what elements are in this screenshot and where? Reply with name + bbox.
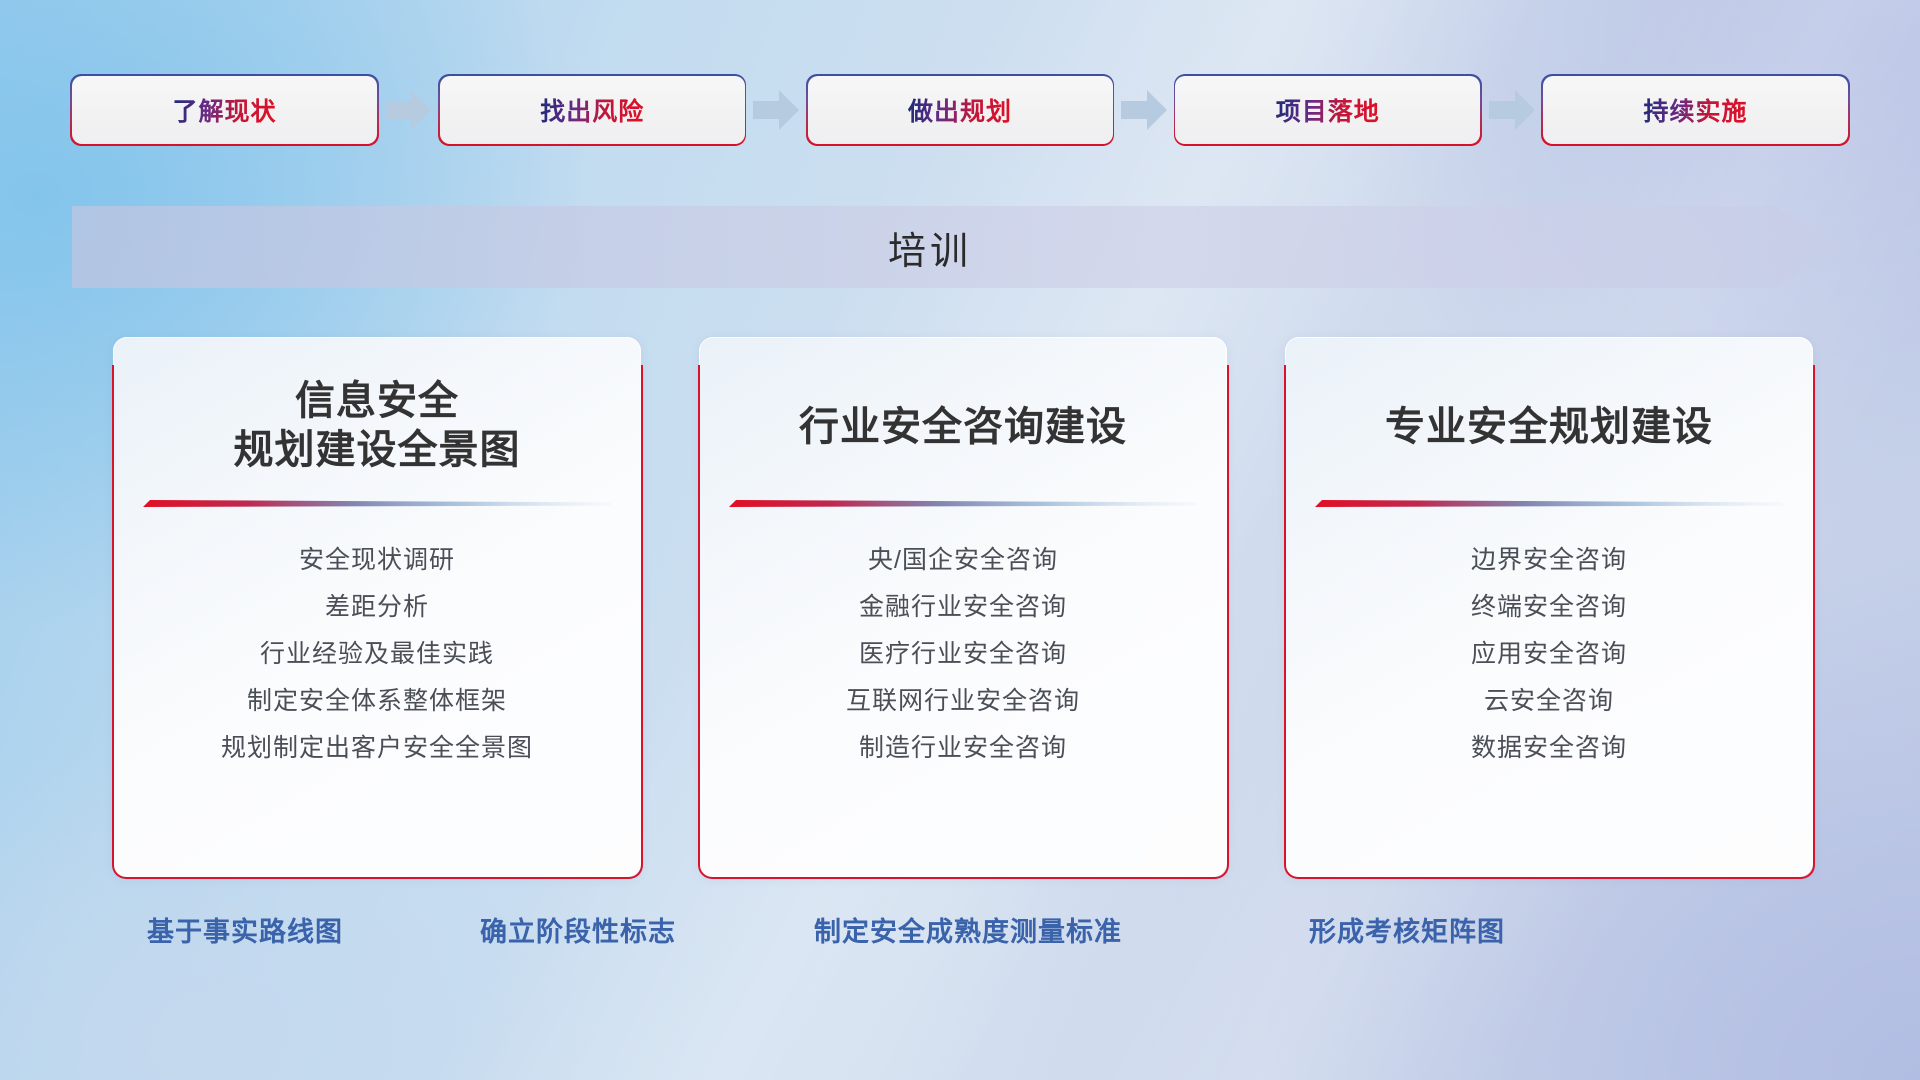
card-item-list: 央/国企安全咨询 金融行业安全咨询 医疗行业安全咨询 互联网行业安全咨询 制造行… (729, 537, 1197, 772)
step-arrow-2 (745, 88, 808, 132)
card-title: 信息安全 规划建设全景图 (234, 377, 521, 477)
card-title-line: 行业安全咨询建设 (799, 403, 1127, 452)
list-item: 央/国企安全咨询 (729, 537, 1197, 584)
card-industry-consulting[interactable]: 行业安全咨询建设 (699, 337, 1227, 877)
tapered-rule-icon (729, 495, 1197, 511)
card-title-line: 规划建设全景图 (234, 426, 521, 475)
step-box-3[interactable]: 做出规划 (808, 76, 1113, 144)
step-box-5[interactable]: 持续实施 (1543, 76, 1848, 144)
arrow-right-icon (1489, 89, 1535, 131)
slide-canvas: 了解现状 找出风险 做出规划 项目落地 (0, 0, 1920, 1080)
list-item: 医疗行业安全咨询 (729, 631, 1197, 678)
step-box-2[interactable]: 找出风险 (440, 76, 745, 144)
list-item: 行业经验及最佳实践 (143, 631, 611, 678)
list-item: 终端安全咨询 (1315, 584, 1783, 631)
step-arrow-4 (1480, 88, 1543, 132)
caption-milestones: 确立阶段性标志 (480, 910, 676, 949)
card-item-list: 边界安全咨询 终端安全咨询 应用安全咨询 云安全咨询 数据安全咨询 (1315, 537, 1783, 772)
list-item: 规划制定出客户安全全景图 (143, 725, 611, 772)
list-item: 应用安全咨询 (1315, 631, 1783, 678)
process-step-row: 了解现状 找出风险 做出规划 项目落地 (72, 76, 1848, 144)
arrow-right-icon (1121, 89, 1167, 131)
tapered-rule-icon (143, 495, 611, 511)
list-item: 云安全咨询 (1315, 678, 1783, 725)
card-row: 信息安全 规划建设全景图 (113, 337, 1813, 877)
arrow-right-icon (385, 89, 431, 131)
card-panorama[interactable]: 信息安全 规划建设全景图 (113, 337, 641, 877)
step-label: 持续实施 (1643, 92, 1747, 128)
list-item: 制定安全体系整体框架 (143, 678, 611, 725)
list-item: 金融行业安全咨询 (729, 584, 1197, 631)
card-title-line: 信息安全 (234, 377, 521, 426)
step-label: 项目落地 (1276, 92, 1380, 128)
caption-row: 基于事实路线图 确立阶段性标志 制定安全成熟度测量标准 形成考核矩阵图 (0, 910, 1920, 958)
card-title: 专业安全规划建设 (1385, 377, 1713, 477)
tapered-rule-icon (1315, 495, 1783, 511)
caption-roadmap: 基于事实路线图 (147, 910, 343, 949)
step-box-1[interactable]: 了解现状 (72, 76, 377, 144)
card-divider (143, 495, 611, 511)
list-item: 差距分析 (143, 584, 611, 631)
step-arrow-1 (377, 88, 440, 132)
caption-maturity-standard: 制定安全成熟度测量标准 (814, 910, 1122, 949)
step-label: 做出规划 (908, 92, 1012, 128)
step-label: 找出风险 (540, 92, 644, 128)
step-label: 了解现状 (172, 92, 276, 128)
list-item: 数据安全咨询 (1315, 725, 1783, 772)
list-item: 安全现状调研 (143, 537, 611, 584)
step-box-4[interactable]: 项目落地 (1175, 76, 1480, 144)
card-title: 行业安全咨询建设 (799, 377, 1127, 477)
card-item-list: 安全现状调研 差距分析 行业经验及最佳实践 制定安全体系整体框架 规划制定出客户… (143, 537, 611, 772)
list-item: 边界安全咨询 (1315, 537, 1783, 584)
caption-assessment-matrix: 形成考核矩阵图 (1309, 910, 1505, 949)
arrow-right-icon (753, 89, 799, 131)
list-item: 制造行业安全咨询 (729, 725, 1197, 772)
card-divider (729, 495, 1197, 511)
step-arrow-3 (1113, 88, 1176, 132)
banner-title: 培训 (72, 206, 1848, 288)
list-item: 互联网行业安全咨询 (729, 678, 1197, 725)
training-banner: 培训 (72, 206, 1848, 288)
card-professional-planning[interactable]: 专业安全规划建设 (1285, 337, 1813, 877)
card-title-line: 专业安全规划建设 (1385, 403, 1713, 452)
card-divider (1315, 495, 1783, 511)
